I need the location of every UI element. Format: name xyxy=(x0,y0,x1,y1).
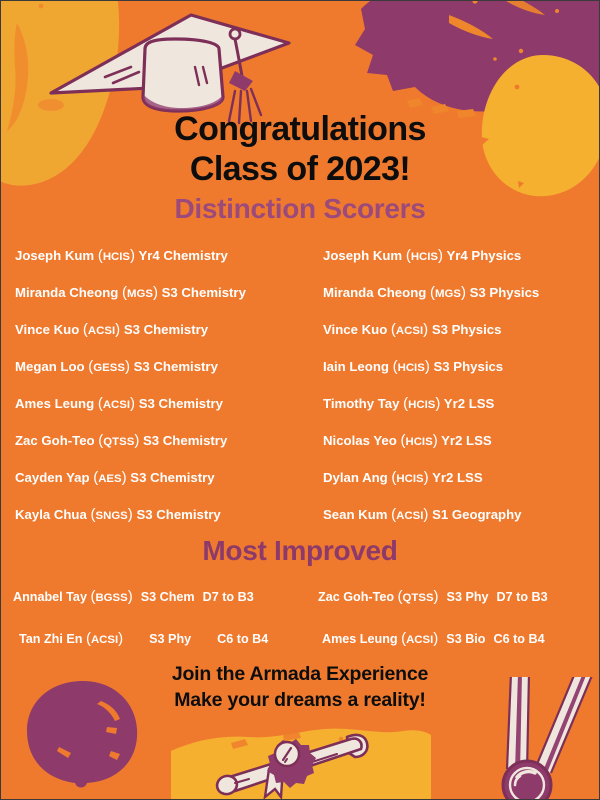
student-name: Zac Goh-Teo xyxy=(15,433,95,448)
section-heading-most-improved: Most Improved xyxy=(1,535,599,567)
student-name: Tan Zhi En xyxy=(19,632,82,646)
student-school: HCIS xyxy=(411,251,438,263)
student-detail: S3 Chemistry xyxy=(162,285,246,300)
distinction-entry: Sean Kum (ACSI) S1 Geography xyxy=(323,496,600,533)
student-name: Megan Loo xyxy=(15,359,85,374)
student-name: Sean Kum xyxy=(323,507,388,522)
student-name: Nicolas Yeo xyxy=(323,433,397,448)
student-improvement: D7 to B3 xyxy=(497,590,548,604)
student-school: ACSI xyxy=(396,510,423,522)
student-school: HCIS xyxy=(405,436,432,448)
student-detail: S3 Chemistry xyxy=(134,359,218,374)
student-school: QTSS xyxy=(403,592,434,604)
student-name: Joseph Kum xyxy=(323,248,402,263)
distinction-entry: Miranda Cheong (MGS) S3 Physics xyxy=(323,274,600,311)
footer-line-2: Make your dreams a reality! xyxy=(1,687,599,713)
distinction-entry: Timothy Tay (HCIS) Yr2 LSS xyxy=(323,385,600,422)
distinction-entry: Megan Loo (GESS) S3 Chemistry xyxy=(15,348,293,385)
most-improved-row: Annabel Tay (BGSS)S3 ChemD7 to B3 Zac Go… xyxy=(1,575,600,617)
graduation-congratulations-poster: Congratulations Class of 2023! Distincti… xyxy=(0,0,600,800)
distinction-column-left: Joseph Kum (HCIS) Yr4 Chemistry Miranda … xyxy=(1,237,293,533)
student-detail: S3 Chemistry xyxy=(143,433,227,448)
distinction-column-right: Joseph Kum (HCIS) Yr4 Physics Miranda Ch… xyxy=(293,237,600,533)
distinction-entry: Iain Leong (HCIS) S3 Physics xyxy=(323,348,600,385)
student-name: Zac Goh-Teo xyxy=(318,590,394,604)
student-detail: Yr2 LSS xyxy=(444,396,495,411)
content-layer: Congratulations Class of 2023! Distincti… xyxy=(1,1,599,799)
student-school: MGS xyxy=(127,288,153,300)
most-improved-row: Tan Zhi En (ACSI)S3 PhyC6 to B4 Ames Leu… xyxy=(1,617,600,659)
distinction-entry: Ames Leung (ACSI) S3 Chemistry xyxy=(15,385,293,422)
section-heading-distinction-scorers: Distinction Scorers xyxy=(1,193,599,225)
student-name: Vince Kuo xyxy=(323,322,387,337)
poster-footer: Join the Armada Experience Make your dre… xyxy=(1,661,599,714)
student-school: BGSS xyxy=(95,592,127,604)
student-school: HCIS xyxy=(396,473,423,485)
most-improved-entry: Ames Leung (ACSI)S3 BioC6 to B4 xyxy=(298,630,600,647)
student-name: Vince Kuo xyxy=(15,322,79,337)
student-school: ACSI xyxy=(103,399,130,411)
distinction-entry: Joseph Kum (HCIS) Yr4 Physics xyxy=(323,237,600,274)
distinction-entry: Zac Goh-Teo (QTSS) S3 Chemistry xyxy=(15,422,293,459)
student-improvement: C6 to B4 xyxy=(217,632,268,646)
most-improved-list: Annabel Tay (BGSS)S3 ChemD7 to B3 Zac Go… xyxy=(1,575,600,659)
student-school: ACSI xyxy=(88,325,115,337)
student-school: ACSI xyxy=(91,634,118,646)
student-subject: S3 Chem xyxy=(141,590,195,604)
student-improvement: D7 to B3 xyxy=(203,590,254,604)
student-detail: S3 Physics xyxy=(434,359,504,374)
student-school: SNGS xyxy=(96,510,128,522)
distinction-scorers-list: Joseph Kum (HCIS) Yr4 Chemistry Miranda … xyxy=(1,237,600,533)
student-detail: S1 Geography xyxy=(432,507,521,522)
student-name: Cayden Yap xyxy=(15,470,90,485)
student-school: ACSI xyxy=(396,325,423,337)
student-detail: S3 Physics xyxy=(432,322,502,337)
distinction-entry: Vince Kuo (ACSI) S3 Physics xyxy=(323,311,600,348)
student-detail: S3 Chemistry xyxy=(130,470,214,485)
student-school: MGS xyxy=(435,288,461,300)
poster-title-line-1: Congratulations xyxy=(1,109,599,149)
poster-title: Congratulations Class of 2023! xyxy=(1,109,599,189)
student-name: Miranda Cheong xyxy=(15,285,118,300)
student-school: HCIS xyxy=(103,251,130,263)
most-improved-entry: Tan Zhi En (ACSI)S3 PhyC6 to B4 xyxy=(1,630,298,647)
student-school: HCIS xyxy=(408,399,435,411)
student-school: AES xyxy=(98,473,121,485)
student-school: HCIS xyxy=(398,362,425,374)
distinction-entry: Kayla Chua (SNGS) S3 Chemistry xyxy=(15,496,293,533)
student-name: Iain Leong xyxy=(323,359,389,374)
distinction-entry: Nicolas Yeo (HCIS) Yr2 LSS xyxy=(323,422,600,459)
student-school: ACSI xyxy=(406,634,433,646)
student-detail: Yr2 LSS xyxy=(432,470,483,485)
student-subject: S3 Bio xyxy=(446,632,485,646)
student-detail: S3 Physics xyxy=(470,285,540,300)
student-school: GESS xyxy=(93,362,125,374)
student-name: Annabel Tay xyxy=(13,590,87,604)
student-name: Miranda Cheong xyxy=(323,285,426,300)
student-detail: Yr4 Physics xyxy=(446,248,521,263)
student-name: Kayla Chua xyxy=(15,507,87,522)
student-school: QTSS xyxy=(103,436,134,448)
student-detail: Yr2 LSS xyxy=(441,433,492,448)
footer-line-1: Join the Armada Experience xyxy=(1,661,599,687)
most-improved-entry: Annabel Tay (BGSS)S3 ChemD7 to B3 xyxy=(1,588,296,605)
student-detail: Yr4 Chemistry xyxy=(138,248,227,263)
student-subject: S3 Phy xyxy=(447,590,489,604)
poster-title-line-2: Class of 2023! xyxy=(1,149,599,189)
student-detail: S3 Chemistry xyxy=(124,322,208,337)
distinction-entry: Joseph Kum (HCIS) Yr4 Chemistry xyxy=(15,237,293,274)
student-name: Ames Leung xyxy=(15,396,94,411)
most-improved-entry: Zac Goh-Teo (QTSS)S3 PhyD7 to B3 xyxy=(296,588,600,605)
student-name: Dylan Ang xyxy=(323,470,388,485)
student-name: Joseph Kum xyxy=(15,248,94,263)
student-name: Ames Leung xyxy=(322,632,398,646)
student-subject: S3 Phy xyxy=(149,632,191,646)
student-detail: S3 Chemistry xyxy=(139,396,223,411)
student-name: Timothy Tay xyxy=(323,396,399,411)
distinction-entry: Miranda Cheong (MGS) S3 Chemistry xyxy=(15,274,293,311)
student-detail: S3 Chemistry xyxy=(136,507,220,522)
distinction-entry: Vince Kuo (ACSI) S3 Chemistry xyxy=(15,311,293,348)
student-improvement: C6 to B4 xyxy=(494,632,545,646)
distinction-entry: Dylan Ang (HCIS) Yr2 LSS xyxy=(323,459,600,496)
distinction-entry: Cayden Yap (AES) S3 Chemistry xyxy=(15,459,293,496)
